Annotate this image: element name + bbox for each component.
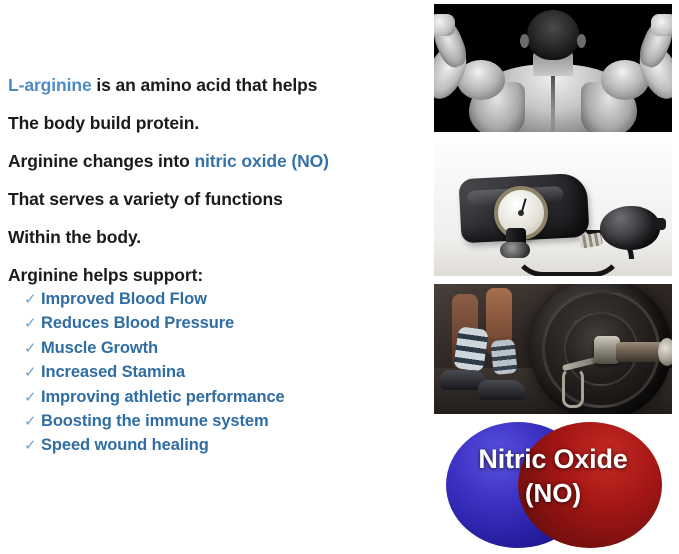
spine-line [551,74,555,132]
paragraph-line-1: L-arginine is an amino acid that helps [8,66,418,104]
check-icon: ✓ [24,386,41,410]
paragraph-line-4: That serves a variety of functions [8,180,418,218]
bulb-tip-shape [652,218,666,230]
intro-paragraph: L-arginine is an amino acid that helps T… [8,66,418,294]
list-item-label: Improving athletic performance [41,385,285,409]
paragraph-line-4-text: That serves a variety of functions [8,189,283,209]
bodybuilder-scene [434,4,672,132]
left-ear-shape [520,34,529,48]
check-icon: ✓ [24,337,41,361]
list-item-label: Increased Stamina [41,360,185,384]
list-item-label: Improved Blood Flow [41,287,207,311]
list-item-label: Muscle Growth [41,336,158,360]
left-fist-shape [434,14,455,36]
athlete-shoe-front [478,380,526,400]
paragraph-line-3-lead: Arginine changes into [8,151,194,171]
gym-scene: OLYMPIC [434,284,672,414]
check-icon: ✓ [24,361,41,385]
text-column: L-arginine is an amino acid that helps T… [0,0,424,554]
list-item: ✓ Speed wound healing [24,433,420,457]
list-item: ✓ Boosting the immune system [24,409,420,433]
paragraph-line-2: The body build protein. [8,104,418,142]
barbell-end-cap-shape [658,338,672,366]
paragraph-line-5: Within the body. [8,218,418,256]
check-icon: ✓ [24,434,41,458]
oxygen-atom-sphere [518,422,662,548]
molecule-scene: Nitric Oxide (NO) [434,420,672,550]
slide-root: L-arginine is an amino acid that helps T… [0,0,679,554]
head-shape [527,10,579,60]
paragraph-line-6-text: Arginine helps support: [8,265,203,285]
list-item: ✓ Reduces Blood Pressure [24,311,420,335]
athlete-sock-back [453,326,489,372]
check-icon: ✓ [24,410,41,434]
list-item: ✓ Increased Stamina [24,360,420,384]
paragraph-line-2-text: The body build protein. [8,113,199,133]
list-item-label: Reduces Blood Pressure [41,311,234,335]
check-icon: ✓ [24,312,41,336]
paragraph-line-5-text: Within the body. [8,227,141,247]
paragraph-line-1-rest: is an amino acid that helps [92,75,318,95]
benefits-list: ✓ Improved Blood Flow ✓ Reduces Blood Pr… [24,287,420,458]
inflation-bulb-shape [600,206,660,250]
athlete-sock-front [490,339,517,375]
right-ear-shape [577,34,586,48]
plate-clip-shape [562,368,584,408]
gauge-hub [518,210,524,216]
nitric-oxide-badge: Nitric Oxide (NO) [434,420,672,550]
valve-shape [500,242,530,258]
list-item: ✓ Improving athletic performance [24,385,420,409]
list-item-label: Speed wound healing [41,433,209,457]
blood-pressure-scene [434,142,672,276]
blood-pressure-monitor-photo [434,142,672,276]
list-item: ✓ Muscle Growth [24,336,420,360]
check-icon: ✓ [24,288,41,312]
list-item: ✓ Improved Blood Flow [24,287,420,311]
paragraph-line-3: Arginine changes into nitric oxide (NO) [8,142,418,180]
bodybuilder-back-photo [434,4,672,132]
right-fist-shape [651,14,672,36]
nitric-oxide-term: nitric oxide (NO) [194,151,328,171]
list-item-label: Boosting the immune system [41,409,269,433]
image-column: OLYMPIC Nitric Oxide (NO) [434,0,672,554]
barbell-weight-plate-photo: OLYMPIC [434,284,672,414]
l-arginine-term: L-arginine [8,75,92,95]
